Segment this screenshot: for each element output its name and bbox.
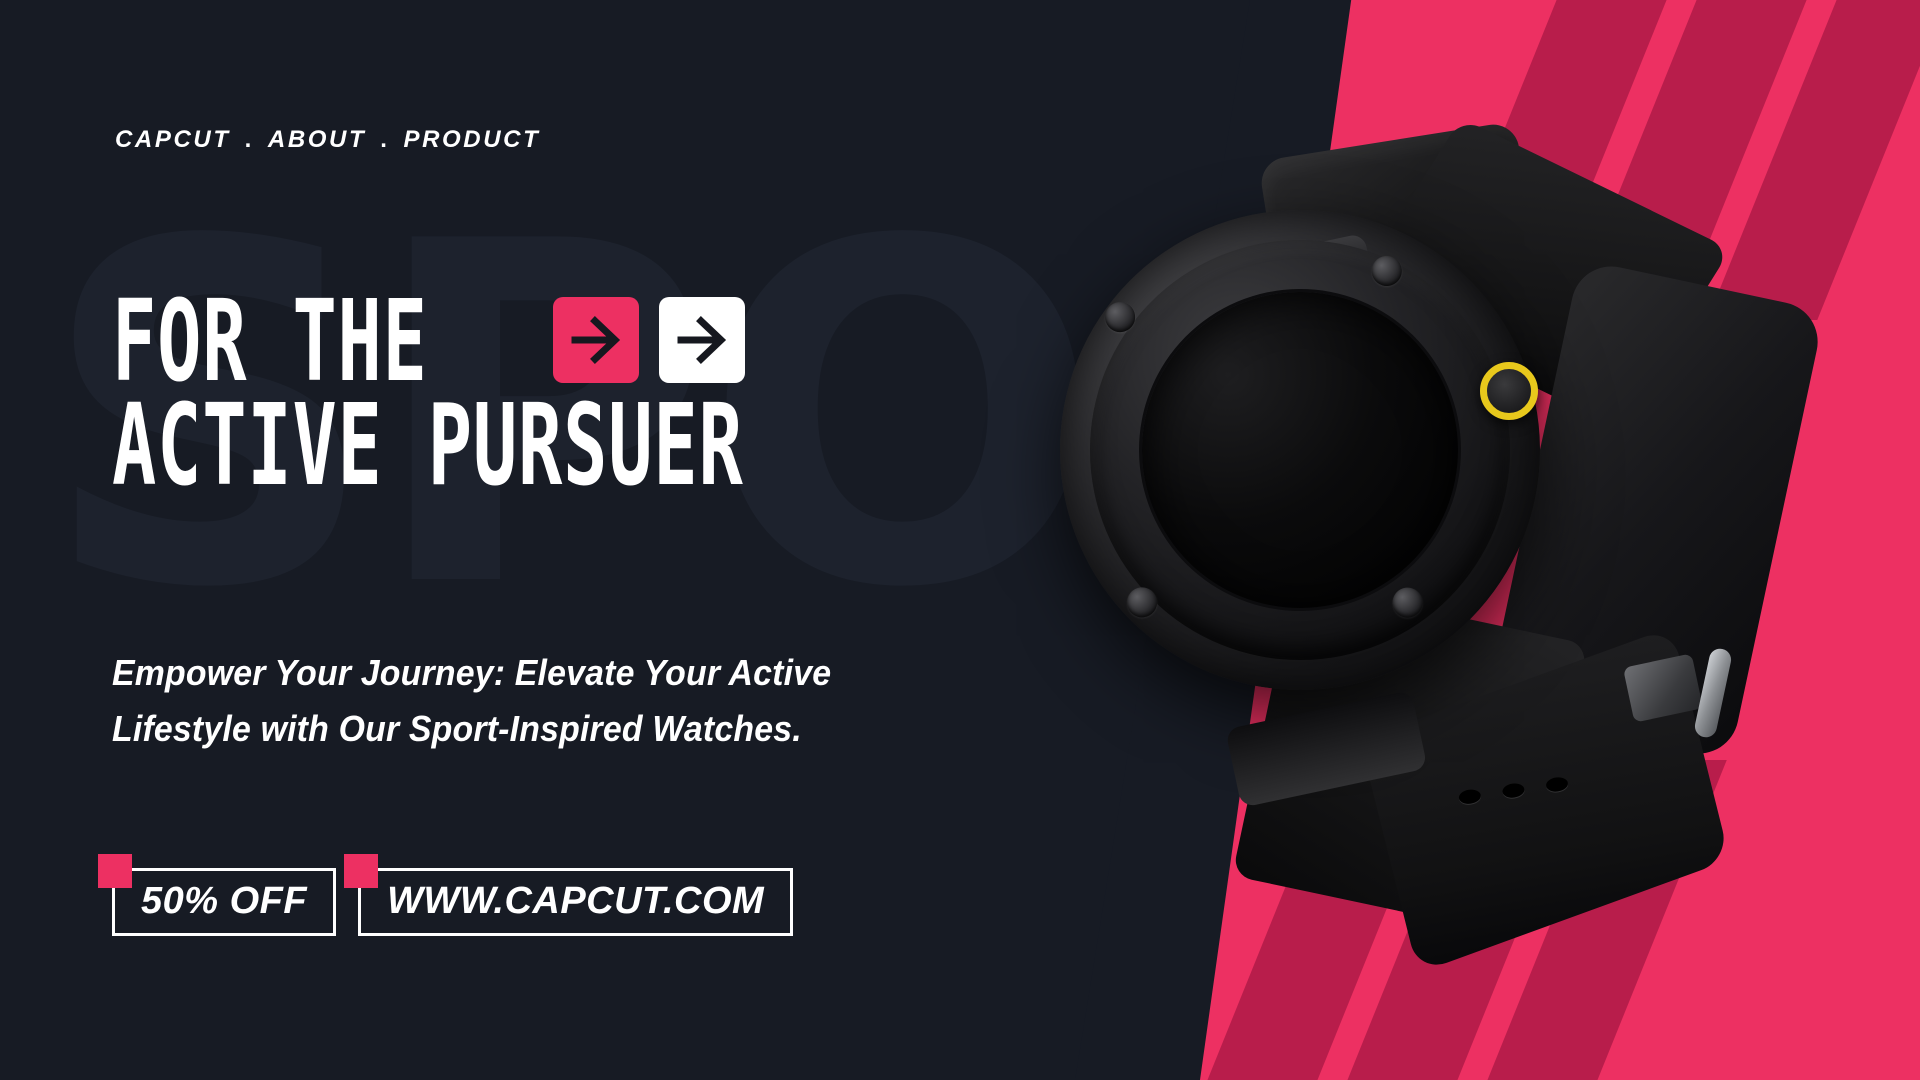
headline-block: FOR THE ACTIV [112,298,952,491]
website-label: WWW.CAPCUT.COM [387,882,764,920]
corner-square-accent [98,854,132,888]
subtitle-text: Empower Your Journey: Elevate Your Activ… [112,645,939,757]
headline-line-2: ACTIVE PURSUER [112,393,784,501]
nav-separator: . [366,126,403,154]
arrow-right-secondary-button[interactable] [659,297,745,383]
nav-item-product[interactable]: PRODUCT [404,126,541,154]
nav-item-capcut[interactable]: CAPCUT [115,126,231,154]
nav-item-about[interactable]: ABOUT [268,126,366,154]
arrow-button-group [553,297,745,383]
nav-separator: . [231,126,268,154]
arrow-right-icon [569,313,623,367]
cta-row: 50% OFF WWW.CAPCUT.COM [112,868,793,936]
top-navigation: CAPCUT . ABOUT . PRODUCT [115,126,540,154]
promo-banner: SPO CAPCUT . [0,0,1920,1080]
arrow-right-primary-button[interactable] [553,297,639,383]
corner-square-accent [344,854,378,888]
website-badge[interactable]: WWW.CAPCUT.COM [358,868,793,936]
discount-label: 50% OFF [141,882,307,920]
banner-content: CAPCUT . ABOUT . PRODUCT FOR THE [0,0,1920,1080]
arrow-right-icon [675,313,729,367]
headline-row-1: FOR THE [112,298,952,386]
discount-badge[interactable]: 50% OFF [112,868,336,936]
